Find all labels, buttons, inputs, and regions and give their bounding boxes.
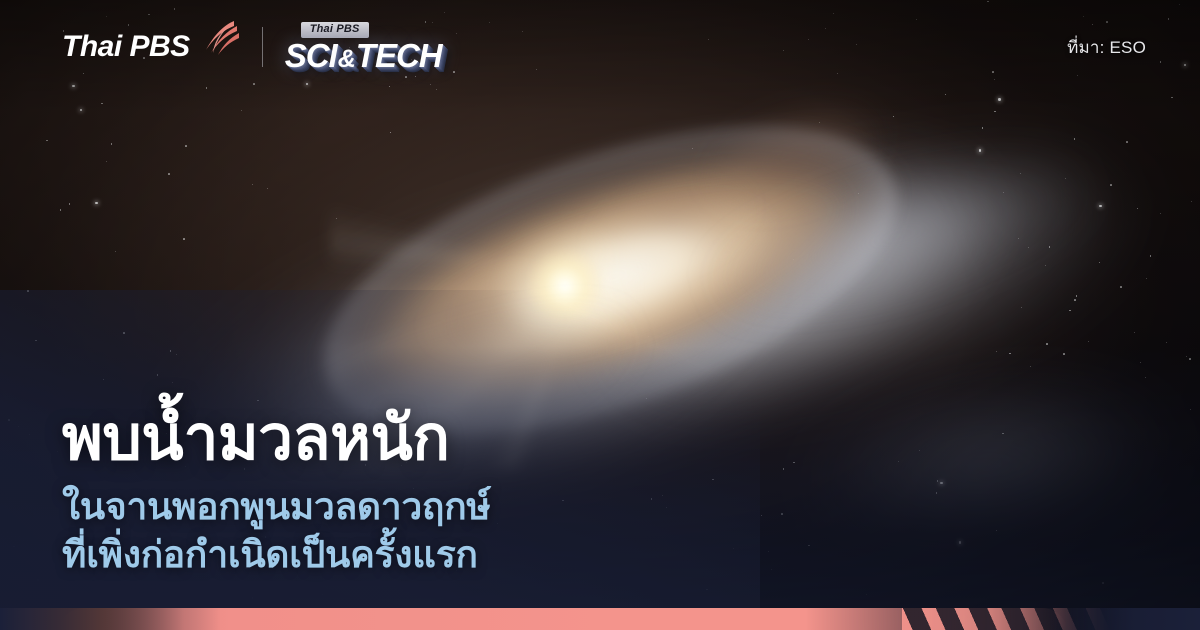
- ampersand-text: &: [337, 45, 356, 73]
- accent-bar-right-fade: [1050, 608, 1200, 630]
- thaipbs-wordmark: Thai PBS: [62, 32, 190, 62]
- accent-bar-left-fade: [0, 608, 230, 630]
- brand-divider: [262, 27, 263, 67]
- subtitle-line-2: ที่เพิ่งก่อกำเนิดเป็นครั้งแรก: [62, 531, 762, 578]
- sci-tech-tag: Thai PBS: [301, 22, 369, 38]
- brand-lockup: Thai PBS Thai PBS SCI&TECH: [62, 22, 442, 72]
- tech-text: TECH: [356, 37, 442, 74]
- thaipbs-swoosh-icon: [194, 19, 240, 64]
- sci-tech-wordmark: SCI&TECH: [285, 39, 442, 72]
- poster-canvas: Thai PBS Thai PBS SCI&TECH ที่ม: [0, 0, 1200, 630]
- subtitle-line-1: ในจานพอกพูนมวลดาวฤกษ์: [62, 483, 762, 530]
- headline-block: พบน้ำมวลหนัก ในจานพอกพูนมวลดาวฤกษ์ ที่เพ…: [62, 406, 762, 578]
- thaipbs-logo[interactable]: Thai PBS: [62, 29, 240, 64]
- header-bar: Thai PBS Thai PBS SCI&TECH ที่ม: [0, 0, 1200, 88]
- sci-tech-logo[interactable]: Thai PBS SCI&TECH: [285, 22, 442, 72]
- source-credit: ที่มา: ESO: [1067, 34, 1146, 61]
- bottom-accent-bar: [0, 608, 1200, 630]
- page-title: พบน้ำมวลหนัก: [62, 406, 762, 473]
- sci-text: SCI: [285, 37, 337, 74]
